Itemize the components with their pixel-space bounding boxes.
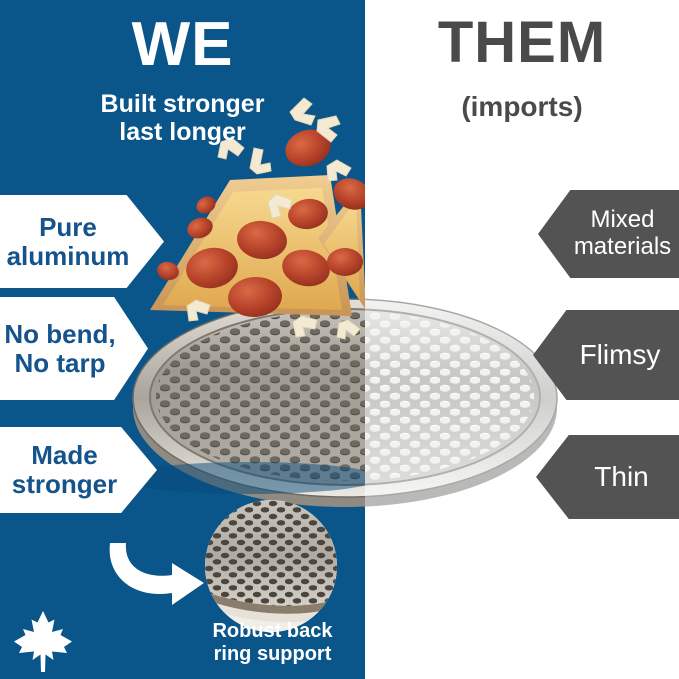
- callout-them-2-line1: Flimsy: [580, 339, 661, 370]
- we-subheading-line1: Built stronger: [0, 90, 365, 118]
- curved-arrow-icon: [100, 525, 212, 610]
- callout-them-1-line1: Mixed: [574, 207, 671, 234]
- we-subheading-line2: last longer: [0, 118, 365, 146]
- them-subheading: (imports): [365, 92, 679, 123]
- inset-pan-back-image: [205, 500, 337, 632]
- callout-them-3-line1: Thin: [594, 461, 648, 492]
- inset-caption-line2: ring support: [170, 643, 375, 666]
- back-ring-detail-inset: [205, 500, 337, 632]
- callout-we-1-line2: aluminum: [7, 242, 130, 271]
- we-subheading: Built stronger last longer: [0, 90, 365, 146]
- comparison-infographic: WE Built stronger last longer THEM (impo…: [0, 0, 679, 679]
- callout-we-1-line1: Pure: [7, 213, 130, 242]
- callout-we-3-line1: Made: [12, 441, 117, 470]
- callout-them-1-line2: materials: [574, 234, 671, 261]
- callout-we-2-line1: No bend,: [4, 320, 115, 349]
- inset-caption: Robust back ring support: [170, 620, 375, 666]
- we-heading: WE: [0, 14, 365, 76]
- them-heading: THEM: [365, 14, 679, 72]
- maple-leaf-icon: [12, 608, 74, 674]
- callout-we-3-line2: stronger: [12, 470, 117, 499]
- callout-we-2-line2: No tarp: [4, 349, 115, 378]
- inset-caption-line1: Robust back: [170, 620, 375, 643]
